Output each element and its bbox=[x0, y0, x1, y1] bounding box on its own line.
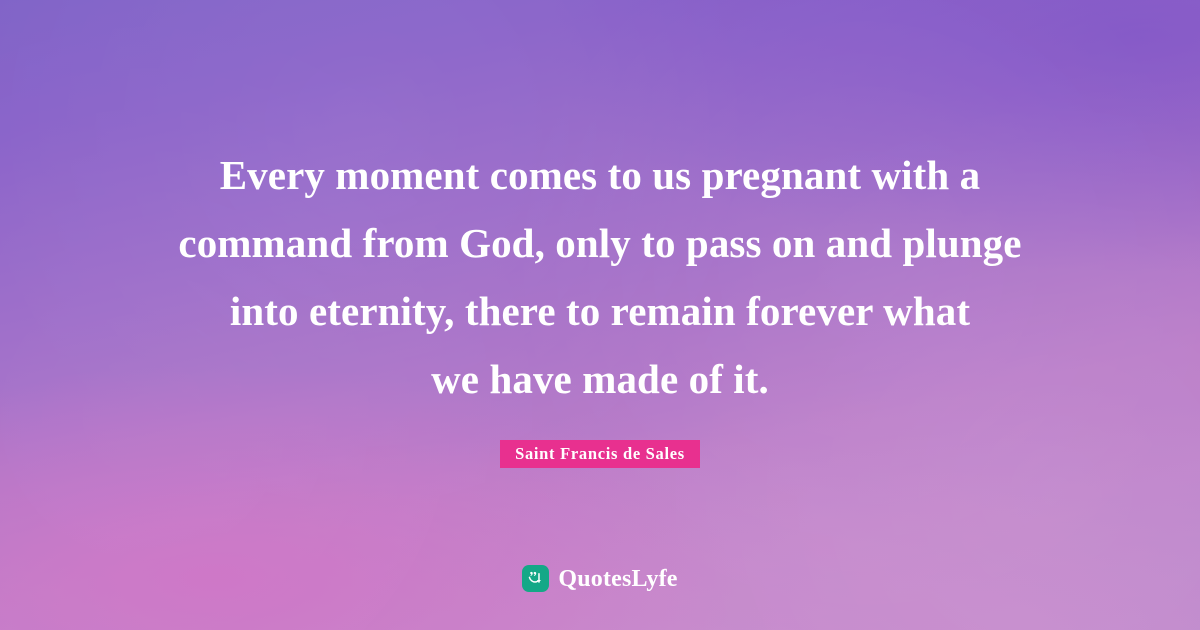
brand-name-label: QuotesLyfe bbox=[558, 566, 677, 592]
author-badge-container: Saint Francis de Sales bbox=[500, 440, 700, 468]
quote-smiley-icon bbox=[522, 565, 549, 592]
quote-line: into eternity, there to remain forever w… bbox=[100, 277, 1100, 345]
brand-watermark[interactable]: QuotesLyfe bbox=[0, 565, 1200, 592]
quote-line: Every moment comes to us pregnant with a bbox=[100, 141, 1100, 209]
quote-card: Every moment comes to us pregnant with a… bbox=[0, 0, 1200, 630]
quote-line: command from God, only to pass on and pl… bbox=[100, 209, 1100, 277]
author-name-badge[interactable]: Saint Francis de Sales bbox=[500, 440, 700, 468]
quote-line: we have made of it. bbox=[100, 345, 1100, 413]
quote-text-block: Every moment comes to us pregnant with a… bbox=[100, 141, 1100, 413]
